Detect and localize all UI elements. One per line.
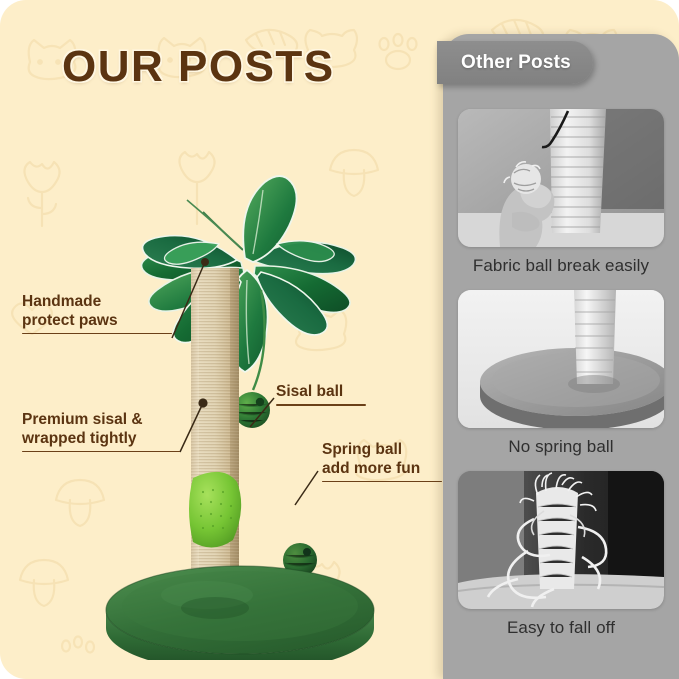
comparison-card-fabric-ball: Fabric ball break easily	[458, 109, 664, 276]
callout-dot-handmade	[201, 258, 209, 266]
callout-line: wrapped tightly	[22, 430, 180, 449]
photo-no-spring-ball	[458, 290, 664, 428]
callout-line: add more fun	[322, 460, 442, 479]
callout-premium-sisal: Premium sisal & wrapped tightly	[22, 411, 180, 452]
sisal-post	[191, 268, 239, 606]
callout-line: Handmade	[22, 293, 172, 312]
callout-line: Spring ball	[322, 441, 442, 460]
callout-line: Premium sisal &	[22, 411, 180, 430]
callout-spring-ball: Spring ball add more fun	[322, 441, 442, 482]
other-posts-tab: Other Posts	[437, 41, 593, 84]
grooming-brush	[189, 472, 241, 548]
comparison-card-no-spring-ball: No spring ball	[458, 290, 664, 457]
page-title: OUR POSTS	[62, 42, 335, 92]
photo-frayed-rope-post	[458, 471, 664, 609]
callout-line: protect paws	[22, 312, 172, 331]
callout-line: Sisal ball	[276, 383, 366, 402]
plush-round-base	[106, 566, 374, 660]
hanging-sisal-ball	[234, 392, 270, 428]
card-caption: Fabric ball break easily	[458, 256, 664, 276]
card-caption: Easy to fall off	[458, 618, 664, 638]
photo-fabric-ball-break	[458, 109, 664, 247]
callout-handmade-protect-paws: Handmade protect paws	[22, 293, 172, 334]
other-posts-tab-label: Other Posts	[461, 52, 571, 74]
comparison-card-easy-fall-off: Easy to fall off	[458, 471, 664, 638]
other-posts-panel: Fabric ball break easily	[443, 34, 679, 679]
callout-dot-premium	[198, 398, 207, 407]
infographic-stage: OUR POSTS	[0, 0, 679, 679]
card-caption: No spring ball	[458, 437, 664, 457]
callout-sisal-ball: Sisal ball	[276, 383, 366, 406]
